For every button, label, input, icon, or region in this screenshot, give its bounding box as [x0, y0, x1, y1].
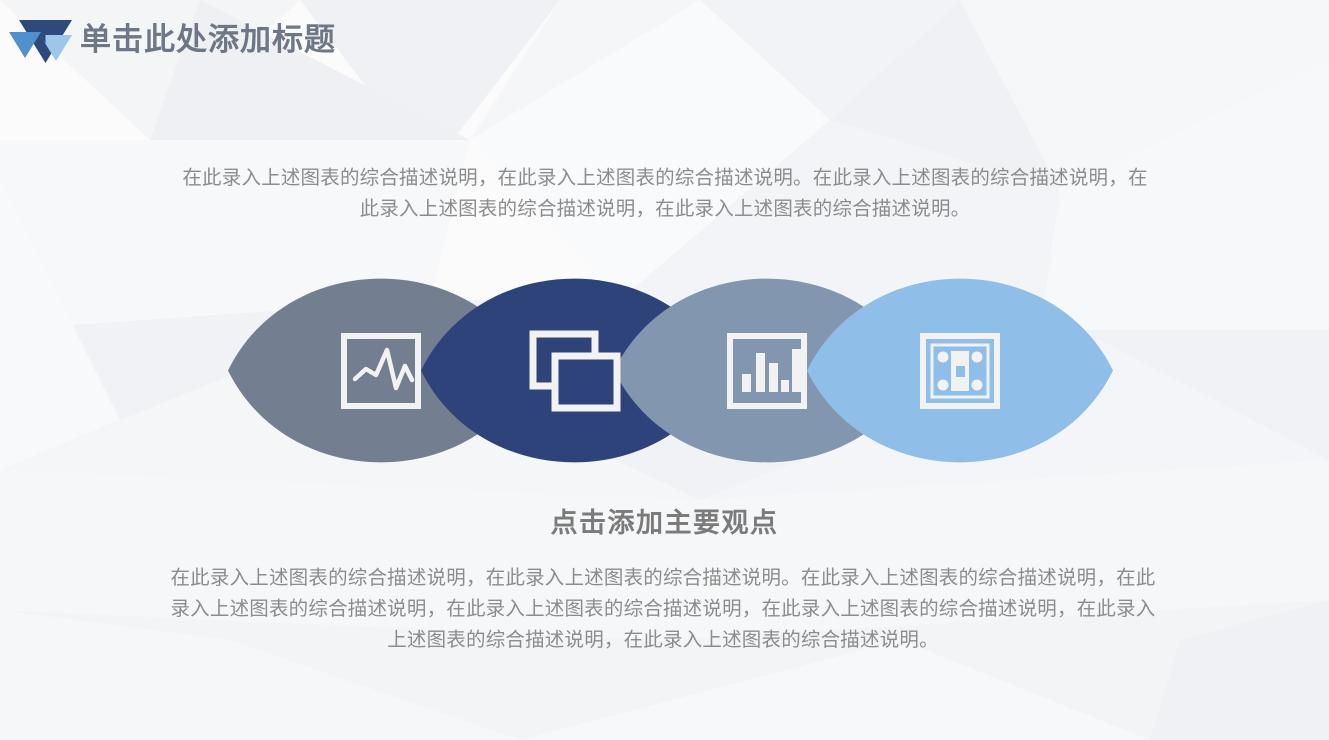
- main-heading: 点击添加主要观点: [0, 501, 1329, 540]
- triangle-logo-icon: [6, 11, 76, 67]
- petal-diagram: [0, 248, 1329, 493]
- slide-header: 单击此处添加标题: [0, 0, 1329, 78]
- bottom-description-paragraph: 在此录入上述图表的综合描述说明，在此录入上述图表的综合描述说明。在此录入上述图表…: [168, 563, 1158, 656]
- top-description-paragraph: 在此录入上述图表的综合描述说明，在此录入上述图表的综合描述说明。在此录入上述图表…: [175, 163, 1155, 225]
- page-title: 单击此处添加标题: [80, 24, 336, 55]
- petal-shape-4[interactable]: [807, 248, 1113, 493]
- slide-canvas: 单击此处添加标题 在此录入上述图表的综合描述说明，在此录入上述图表的综合描述说明…: [0, 0, 1329, 740]
